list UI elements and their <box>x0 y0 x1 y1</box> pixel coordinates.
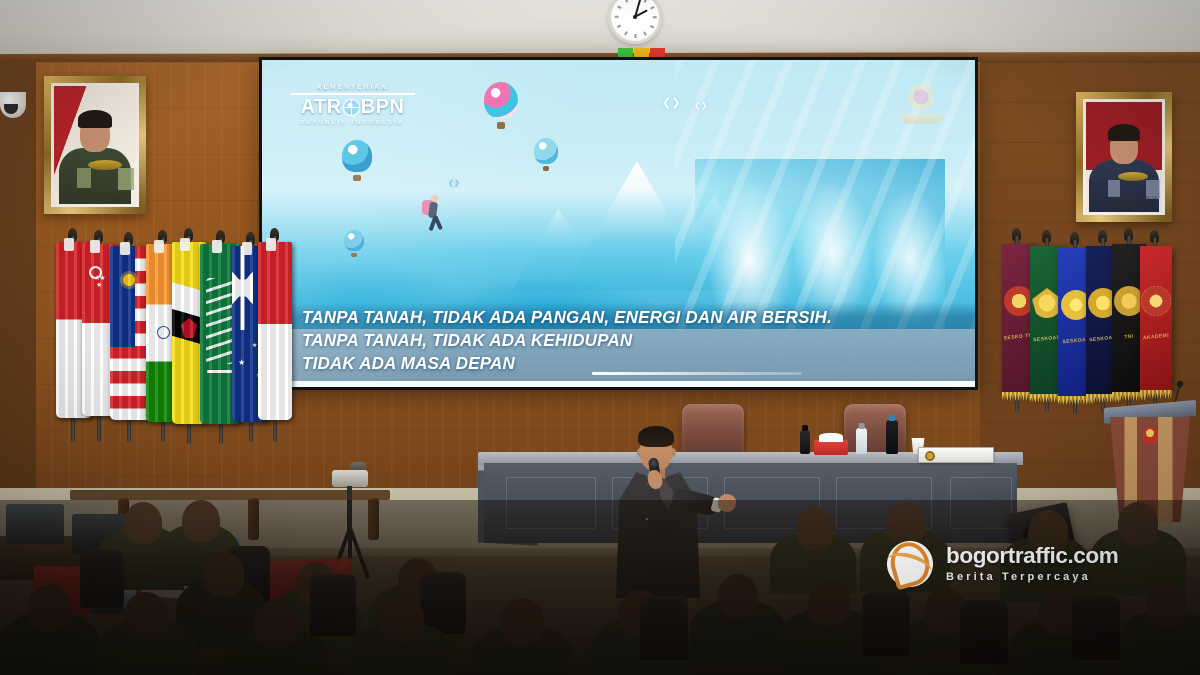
portrait-left-caption: JENDERAL TNI AGUS SUBIYANTO, S.E., M.Si.… <box>54 192 136 202</box>
bird-icon-1: ❮❯ <box>662 98 680 109</box>
globe-icon <box>343 99 360 116</box>
b-swirl-logo-icon <box>884 538 936 590</box>
attendee-head <box>204 552 244 596</box>
logo-bpn-text: BPN <box>361 96 405 119</box>
tumbler-black <box>886 420 898 454</box>
hot-air-balloon-2 <box>342 140 372 182</box>
flag-indonesia-2 <box>258 242 292 420</box>
hand-sanitizer-bottle <box>856 428 867 454</box>
clock-center-pin <box>633 15 637 19</box>
watermark-site: bogortraffic.com <box>946 545 1118 568</box>
attendee-head <box>380 594 424 642</box>
auditorium-chair[interactable] <box>1072 596 1120 660</box>
portrait-frame-right: MARSEKAL MUDA TNI BUDI ACHMADI, S.E., M.… <box>1076 92 1172 222</box>
hiker-figure <box>422 200 446 234</box>
screenshot-root: JENDERAL TNI AGUS SUBIYANTO, S.E., M.Si.… <box>0 0 1200 675</box>
attendee-head <box>808 580 850 626</box>
sesko-tni-emblem-icon <box>899 84 943 132</box>
hot-air-balloon-4 <box>344 230 364 258</box>
officer-head <box>124 502 162 544</box>
attendee-head <box>1146 584 1186 628</box>
slide-caption-line-1: TANPA TANAH, TIDAK ADA PANGAN, ENERGI DA… <box>302 306 955 329</box>
presentation-screen[interactable]: ❮❯ ❮❯ ❮❯ KEMENTERIAN ATR BPN REPUBLIK IN… <box>262 60 975 387</box>
water-bottle-black <box>800 430 810 454</box>
banner-red: AKADEMI <box>1140 246 1172 392</box>
attendee-head <box>28 584 72 632</box>
logo-kementerian-text: KEMENTERIAN <box>290 84 415 91</box>
portrait-image-left: JENDERAL TNI AGUS SUBIYANTO, S.E., M.Si.… <box>54 86 136 204</box>
atr-bpn-logo: KEMENTERIAN ATR BPN REPUBLIK INDONESIA <box>290 84 415 126</box>
attendee-head <box>124 592 168 640</box>
auditorium-chair[interactable] <box>862 592 910 656</box>
auditorium-chair[interactable] <box>80 550 124 608</box>
slide-caption-underline <box>592 372 802 375</box>
attendee-head <box>718 574 758 618</box>
logo-atr-text: ATR <box>301 96 342 119</box>
bird-icon-3: ❮❯ <box>448 180 460 187</box>
hot-air-balloon-3 <box>534 138 558 172</box>
slide-caption-line-2: TANPA TANAH, TIDAK ADA KEHIDUPAN <box>302 329 955 352</box>
tissue-box-red <box>814 440 848 455</box>
auditorium-chair[interactable] <box>960 600 1008 664</box>
hot-air-balloon-1 <box>484 82 518 130</box>
nameplate-seal-icon <box>925 451 935 461</box>
video-camera-icon <box>332 470 368 487</box>
cctv-dome-camera-icon <box>0 92 26 118</box>
portrait-frame-left: JENDERAL TNI AGUS SUBIYANTO, S.E., M.Si.… <box>44 76 146 214</box>
logo-republik-text: REPUBLIK INDONESIA <box>290 120 415 126</box>
monitor-screen-1 <box>6 504 64 544</box>
attendee-head <box>254 600 298 648</box>
auditorium-chair[interactable] <box>640 596 688 660</box>
bogortraffic-watermark: bogortraffic.com Berita Terpercaya <box>884 536 1140 592</box>
portrait-image-right: MARSEKAL MUDA TNI BUDI ACHMADI, S.E., M.… <box>1086 102 1162 212</box>
table-nameplate <box>918 447 994 463</box>
portrait-right-caption: MARSEKAL MUDA TNI BUDI ACHMADI, S.E., M.… <box>1086 196 1162 210</box>
flag-group-left: ★★ ★ <box>48 228 268 444</box>
presenter-hair <box>638 426 674 447</box>
auditorium-chair[interactable] <box>310 574 356 636</box>
wood-wall-panel-left-edge <box>0 62 36 492</box>
bird-icon-2: ❮❯ <box>694 102 707 110</box>
flag-malaysia <box>110 246 150 420</box>
watermark-tagline: Berita Terpercaya <box>946 571 1118 583</box>
officer-head <box>182 500 220 542</box>
attendee-head <box>796 508 834 550</box>
attendee-head <box>500 598 544 646</box>
slide-caption-block: TANPA TANAH, TIDAK ADA PANGAN, ENERGI DA… <box>262 302 975 381</box>
